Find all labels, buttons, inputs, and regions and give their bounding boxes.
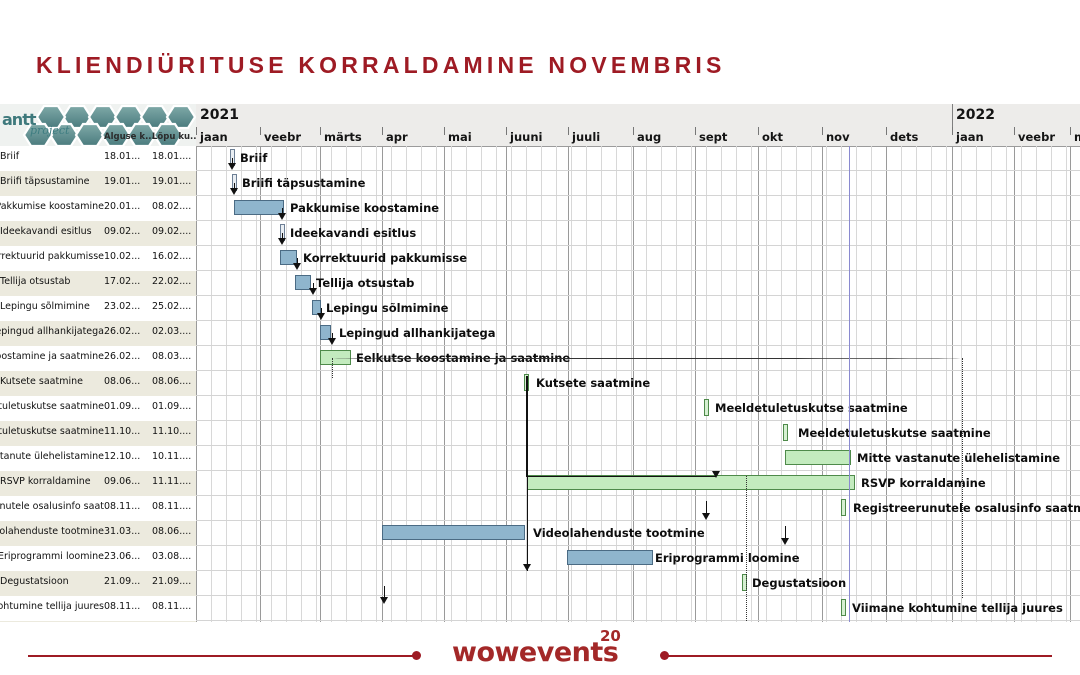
grid-line-vertical (271, 146, 272, 622)
footer-rule-left (28, 655, 416, 657)
task-end-date: 16.02.... (152, 251, 191, 262)
task-end-date: 21.09.... (152, 576, 191, 587)
task-name: Videolahenduste tootmine (0, 526, 104, 542)
gantt-bar[interactable] (785, 450, 851, 465)
year-label: 2021 (200, 107, 239, 123)
task-name: Briif (0, 151, 104, 167)
grid-line-horizontal (196, 295, 1080, 296)
grid-line-vertical (451, 146, 452, 622)
task-end-date: 25.02.... (152, 301, 191, 312)
grid-line-vertical (976, 146, 977, 622)
task-end-date: 08.06.... (152, 526, 191, 537)
gantt-bar[interactable] (527, 475, 855, 490)
month-tick (320, 127, 321, 135)
month-tick (758, 127, 759, 135)
grid-line-horizontal (196, 620, 1080, 621)
grid-line-vertical (466, 146, 467, 622)
grid-line-vertical (901, 146, 902, 622)
month-label: veebr (264, 130, 301, 144)
grid-line-vertical (856, 146, 857, 622)
grid-line-vertical (211, 146, 212, 622)
grid-line-horizontal (196, 395, 1080, 396)
column-header-end[interactable]: Lõpu ku... (152, 132, 196, 142)
month-label: apr (386, 130, 408, 144)
grid-line-horizontal (196, 320, 1080, 321)
gantt-bar-label: Meeldetuletuskutse saatmine (715, 401, 908, 415)
task-table[interactable]: antt project Alguse k... Lõpu ku... Brii… (0, 104, 196, 622)
task-start-date: 31.03... (104, 526, 140, 537)
task-start-date: 09.06... (104, 476, 140, 487)
today-line (849, 146, 850, 622)
month-tick (568, 127, 569, 135)
grid-line-month (1014, 146, 1015, 622)
grid-line-horizontal (196, 470, 1080, 471)
task-name: Tellija otsustab (0, 276, 104, 292)
task-start-date: 23.02... (104, 301, 140, 312)
year-header: 20212022 (196, 104, 1080, 128)
gantt-bar-label: Eriprogrammi loomine (655, 551, 800, 565)
timeline-pane[interactable]: 20212022 jaanveebrmärtsaprmaijuunijuulia… (196, 104, 1080, 622)
grid-line-horizontal (196, 195, 1080, 196)
brand-logo: wowevents (452, 637, 618, 668)
month-tick (260, 127, 261, 135)
dependency-arrow (781, 538, 789, 545)
grid-line-horizontal (196, 170, 1080, 171)
task-name: Meeldetuletuskutse saatmine (0, 401, 104, 417)
grid-line-vertical (316, 146, 317, 622)
grid-line-horizontal (196, 420, 1080, 421)
gantt-bar-label: Ideekavandi esitlus (290, 226, 416, 240)
grid-line-month (320, 146, 321, 622)
task-name: Viimane kohtumine tellija juures (0, 601, 104, 617)
dependency-arrow (293, 263, 301, 270)
grid-line-horizontal (196, 520, 1080, 521)
grid-line-month (822, 146, 823, 622)
grid-line-vertical (331, 146, 332, 622)
task-name: Registreerunutele osalusinfo saat... (0, 501, 104, 517)
table-row[interactable]: Korrektuurid pakkumisse10.02...16.02.... (0, 246, 196, 272)
task-end-date: 10.11.... (152, 451, 191, 462)
grid-line-vertical (991, 146, 992, 622)
table-row[interactable]: Kutsete saatmine08.06...08.06.... (0, 371, 196, 397)
month-tick (506, 127, 507, 135)
task-name: Degustatsioon (0, 576, 104, 592)
table-row[interactable]: Sündmuse paigaldus10.11...10.11.... (0, 621, 196, 622)
dependency-arrow (380, 597, 388, 604)
table-row[interactable]: Eelkutse koostamine ja saatmine26.02...0… (0, 346, 196, 372)
task-end-date: 03.08.... (152, 551, 191, 562)
grid-line-month (260, 146, 261, 622)
grid-line-vertical (346, 146, 347, 622)
task-end-date: 08.02.... (152, 201, 191, 212)
task-end-date: 08.11.... (152, 501, 191, 512)
grid-line-vertical (481, 146, 482, 622)
table-row[interactable]: Viimane kohtumine tellija juures08.11...… (0, 596, 196, 622)
task-start-date: 17.02... (104, 276, 140, 287)
gantt-bar-label: Korrektuurid pakkumisse (303, 251, 467, 265)
grid-line-vertical (496, 146, 497, 622)
grid-line-vertical (1066, 146, 1067, 622)
task-end-date: 11.11.... (152, 476, 191, 487)
month-tick (952, 127, 953, 135)
year-tick (952, 104, 953, 127)
gantt-bar-label: Degustatsioon (752, 576, 846, 590)
task-start-date: 09.02... (104, 226, 140, 237)
task-name: Ideekavandi esitlus (0, 226, 104, 242)
task-name: Eriprogrammi loomine (0, 551, 104, 567)
month-tick (886, 127, 887, 135)
page-title: KLIENDIÜRITUSE KORRALDAMINE NOVEMBRIS (36, 52, 1036, 79)
grid-line-vertical (301, 146, 302, 622)
task-name: Lepingu sõlmimine (0, 301, 104, 317)
grid-line-vertical (1051, 146, 1052, 622)
grid-line-horizontal (196, 445, 1080, 446)
task-end-date: 01.09.... (152, 401, 191, 412)
task-end-date: 08.06.... (152, 376, 191, 387)
gantt-bar-label: Kutsete saatmine (536, 376, 650, 390)
gantt-bar[interactable] (783, 424, 788, 441)
grid-line-vertical (946, 146, 947, 622)
task-name: Kutsete saatmine (0, 376, 104, 392)
month-tick (196, 127, 197, 135)
task-start-date: 01.09... (104, 401, 140, 412)
grid-line-horizontal (196, 220, 1080, 221)
dependency-arrow (230, 188, 238, 195)
gantt-bar[interactable] (704, 399, 709, 416)
gantt-bar[interactable] (841, 599, 846, 616)
grid-line-vertical (811, 146, 812, 622)
month-label: jaan (956, 130, 984, 144)
task-start-date: 20.01... (104, 201, 140, 212)
table-row[interactable]: Meeldetuletuskutse saatmine01.09...01.09… (0, 396, 196, 422)
dependency-line (962, 358, 963, 598)
grid-line-month (1070, 146, 1071, 622)
month-label: sept (699, 130, 727, 144)
month-tick (822, 127, 823, 135)
gantt-bar-label: Lepingud allhankijatega (339, 326, 496, 340)
table-row[interactable]: RSVP korraldamine09.06...11.11.... (0, 471, 196, 497)
grid-line-horizontal (196, 595, 1080, 596)
task-name: Meeldetuletuskutse saatmine (0, 426, 104, 442)
month-tick (1070, 127, 1071, 135)
table-row[interactable]: Videolahenduste tootmine31.03...08.06...… (0, 521, 196, 547)
grid-line-vertical (841, 146, 842, 622)
month-label: juuni (510, 130, 542, 144)
table-row[interactable]: Tellija otsustab17.02...22.02.... (0, 271, 196, 297)
gantt-bar-label: Mitte vastanute ülehelistamine (857, 451, 1060, 465)
grid-line-horizontal (196, 370, 1080, 371)
grid-line-vertical (286, 146, 287, 622)
grid-line-vertical (406, 146, 407, 622)
dependency-arrow (523, 564, 531, 571)
footer-dot-left (412, 651, 421, 660)
table-row[interactable]: Ideekavandi esitlus09.02...09.02.... (0, 221, 196, 247)
month-label: mai (448, 130, 472, 144)
table-row[interactable]: Degustatsioon21.09...21.09.... (0, 571, 196, 597)
month-label: okt (762, 130, 783, 144)
grid-line-vertical (391, 146, 392, 622)
task-name: Mitte vastanute ülehelistamine (0, 451, 104, 467)
month-header: jaanveebrmärtsaprmaijuunijuuliaugseptokt… (196, 127, 1080, 147)
table-row[interactable]: Pakkumise koostamine20.01...08.02.... (0, 196, 196, 222)
grid-line-vertical (256, 146, 257, 622)
month-tick (633, 127, 634, 135)
task-start-date: 19.01... (104, 176, 140, 187)
task-start-date: 11.10... (104, 426, 140, 437)
month-label: aug (637, 130, 661, 144)
task-start-date: 18.01... (104, 151, 140, 162)
task-start-date: 10.02... (104, 251, 140, 262)
gantt-bar-label: Videolahenduste tootmine (533, 526, 705, 540)
task-start-date: 21.09... (104, 576, 140, 587)
footer-rule-right (664, 655, 1052, 657)
task-name: Korrektuurid pakkumisse (0, 251, 104, 267)
month-tick (695, 127, 696, 135)
gantt-bar-label: Briif (240, 151, 267, 165)
dependency-line (332, 358, 962, 359)
column-header-start[interactable]: Alguse k... (104, 132, 155, 142)
task-end-date: 18.01.... (152, 151, 191, 162)
task-end-date: 19.01.... (152, 176, 191, 187)
grid-line-vertical (826, 146, 827, 622)
dependency-arrow (309, 288, 317, 295)
gantt-bar-label: Pakkumise koostamine (290, 201, 439, 215)
task-start-date: 12.10... (104, 451, 140, 462)
month-label: dets (890, 130, 918, 144)
dependency-line (746, 476, 747, 622)
dependency-arrow (278, 238, 286, 245)
grid-line-vertical (871, 146, 872, 622)
gantt-bar[interactable] (382, 525, 525, 540)
gantt-bar-label: Viimane kohtumine tellija juures (852, 601, 1063, 615)
grid-line-vertical (511, 146, 512, 622)
dependency-arrow (317, 313, 325, 320)
task-end-date: 09.02.... (152, 226, 191, 237)
grid-line-vertical (916, 146, 917, 622)
dependency-line (527, 376, 528, 571)
grid-line-month (506, 146, 507, 622)
task-end-date: 22.02.... (152, 276, 191, 287)
grid-line-month (886, 146, 887, 622)
gantt-chart: antt project Alguse k... Lõpu ku... Brii… (0, 104, 1080, 622)
task-end-date: 02.03.... (152, 326, 191, 337)
task-start-date: 08.11... (104, 601, 140, 612)
chart-grid: BriifBriifi täpsustaminePakkumise koosta… (196, 146, 1080, 622)
gantt-bar[interactable] (567, 550, 653, 565)
task-end-date: 08.11.... (152, 601, 191, 612)
gantt-bar[interactable] (841, 499, 846, 516)
dependency-line (332, 358, 333, 378)
table-row[interactable]: Briifi täpsustamine19.01...19.01.... (0, 171, 196, 197)
task-start-date: 08.06... (104, 376, 140, 387)
gantt-bar-label: Briifi täpsustamine (242, 176, 365, 190)
task-end-date: 11.10.... (152, 426, 191, 437)
month-label: märts (324, 130, 362, 144)
task-start-date: 08.11... (104, 501, 140, 512)
grid-line-vertical (931, 146, 932, 622)
grid-line-vertical (1006, 146, 1007, 622)
task-end-date: 08.03.... (152, 351, 191, 362)
grid-line-vertical (241, 146, 242, 622)
table-row[interactable]: Lepingu sõlmimine23.02...25.02.... (0, 296, 196, 322)
month-label: nov (826, 130, 850, 144)
grid-line-horizontal (196, 545, 1080, 546)
dependency-arrow (228, 163, 236, 170)
table-row[interactable]: Mitte vastanute ülehelistamine12.10...10… (0, 446, 196, 472)
grid-line-vertical (376, 146, 377, 622)
dependency-arrow (278, 213, 286, 220)
gantt-bar-label: RSVP korraldamine (861, 476, 986, 490)
table-row[interactable]: Lepingud allhankijatega26.02...02.03.... (0, 321, 196, 347)
table-row[interactable]: Briif18.01...18.01.... (0, 146, 196, 172)
grid-line-horizontal (196, 570, 1080, 571)
grid-line-month (444, 146, 445, 622)
dependency-arrow (328, 338, 336, 345)
table-row[interactable]: Meeldetuletuskutse saatmine11.10...11.10… (0, 421, 196, 447)
gantt-bar-label: Registreerunutele osalusinfo saatm (853, 501, 1080, 515)
task-name: Lepingud allhankijatega (0, 326, 104, 342)
task-name: Briifi täpsustamine (0, 176, 104, 192)
grid-line-vertical (1036, 146, 1037, 622)
grid-line-vertical (436, 146, 437, 622)
month-tick (1014, 127, 1015, 135)
grid-line-vertical (1021, 146, 1022, 622)
month-label: m (1074, 130, 1080, 144)
task-start-date: 26.02... (104, 351, 140, 362)
table-row[interactable]: Registreerunutele osalusinfo saat...08.1… (0, 496, 196, 522)
grid-line-month (196, 146, 197, 622)
year-label: 2022 (956, 107, 995, 123)
month-tick (444, 127, 445, 135)
grid-line-horizontal (196, 495, 1080, 496)
month-tick (382, 127, 383, 135)
table-row[interactable]: Eriprogrammi loomine23.06...03.08.... (0, 546, 196, 572)
dependency-line (526, 476, 716, 477)
month-label: veebr (1018, 130, 1055, 144)
task-start-date: 23.06... (104, 551, 140, 562)
task-start-date: 26.02... (104, 326, 140, 337)
grid-line-vertical (421, 146, 422, 622)
slide-root: KLIENDIÜRITUSE KORRALDAMINE NOVEMBRIS (0, 0, 1080, 675)
gantt-bar-label: Lepingu sõlmimine (326, 301, 448, 315)
grid-line-vertical (361, 146, 362, 622)
gantt-bar-label: Tellija otsustab (316, 276, 414, 290)
task-name: RSVP korraldamine (0, 476, 104, 492)
brand-superscript: 20 (600, 627, 621, 645)
table-column-headers: Alguse k... Lõpu ku... (0, 132, 196, 146)
dependency-arrow (702, 513, 710, 520)
task-name: Eelkutse koostamine ja saatmine (0, 351, 104, 367)
gantt-bar[interactable] (234, 200, 284, 215)
grid-line-month (952, 146, 953, 622)
grid-line-horizontal (196, 345, 1080, 346)
month-label: jaan (200, 130, 228, 144)
grid-line-vertical (226, 146, 227, 622)
dependency-arrow (712, 471, 720, 478)
month-label: juuli (572, 130, 600, 144)
grid-line-month (382, 146, 383, 622)
task-name: Pakkumise koostamine (0, 201, 104, 217)
grid-line-horizontal (196, 270, 1080, 271)
grid-line-horizontal (196, 245, 1080, 246)
